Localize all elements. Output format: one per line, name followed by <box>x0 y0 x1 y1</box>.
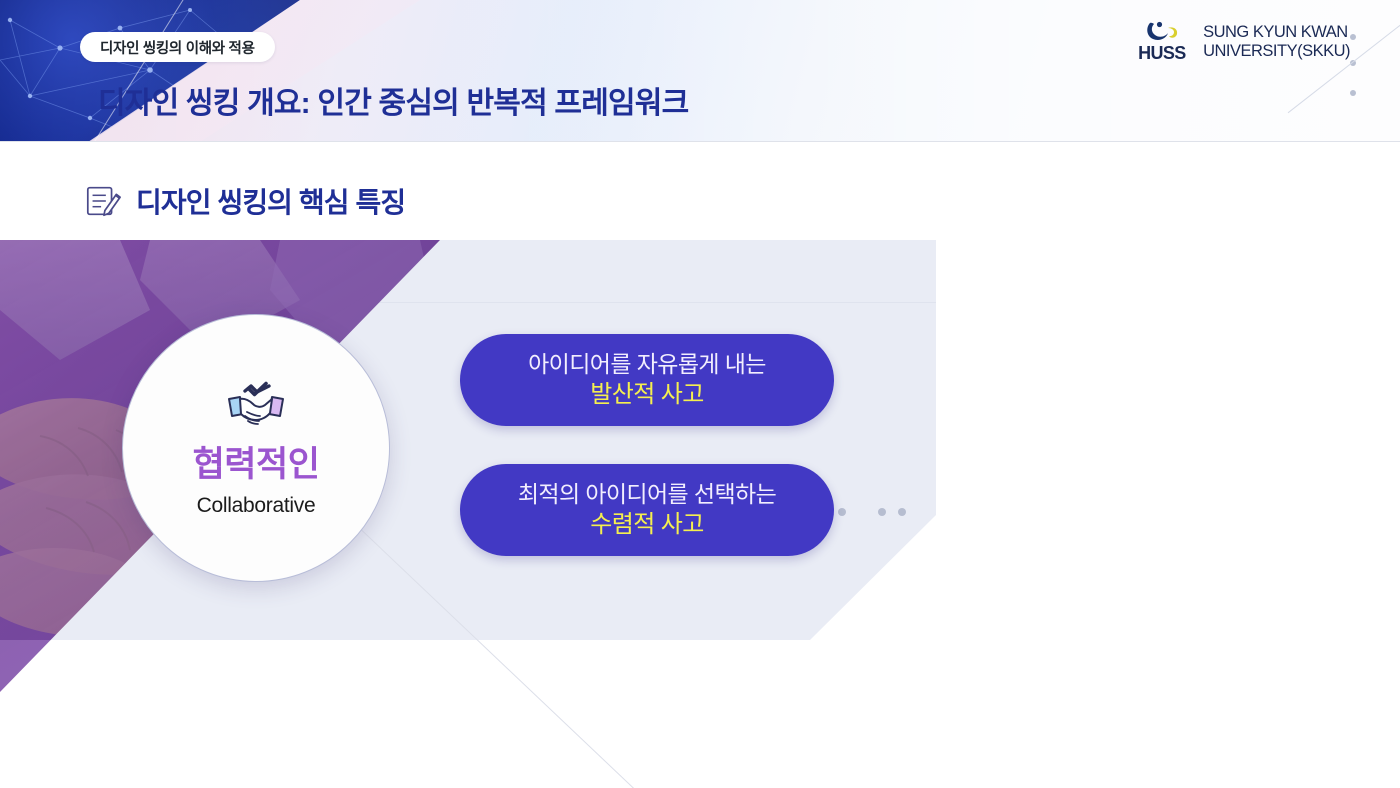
handshake-check-icon <box>225 378 287 445</box>
memo-pencil-icon <box>84 182 122 220</box>
feature-label-ko: 협력적인 <box>193 447 320 484</box>
slide-header: 디자인 씽킹의 이해와 적용 디자인 씽킹 개요: 인간 중심의 반복적 프레임… <box>0 0 1400 142</box>
pill-term: 수렴적 사고 <box>590 510 703 540</box>
logo-university-name: SUNG KYUN KWAN UNIVERSITY(SKKU) <box>1203 23 1350 63</box>
header-dots-decoration <box>1350 34 1356 116</box>
panel-dot <box>878 508 886 516</box>
section-heading: 디자인 씽킹의 핵심 특징 <box>84 181 405 221</box>
header-dot <box>1350 34 1356 40</box>
pill-description: 아이디어를 자유롭게 내는 <box>528 350 766 379</box>
slide: 디자인 씽킹의 이해와 적용 디자인 씽킹 개요: 인간 중심의 반복적 프레임… <box>0 0 1400 788</box>
logo-abbr: HUSS <box>1138 43 1186 64</box>
skku-crescent-icon: HUSS <box>1138 22 1194 64</box>
content-area: 협력적인 Collaborative 아이디어를 자유롭게 내는 발산적 사고 … <box>0 240 1400 788</box>
feature-circle: 협력적인 Collaborative <box>122 314 390 582</box>
header-divider <box>0 141 1400 142</box>
thinking-pill-convergent[interactable]: 최적의 아이디어를 선택하는 수렴적 사고 <box>460 464 834 556</box>
thinking-pill-divergent[interactable]: 아이디어를 자유롭게 내는 발산적 사고 <box>460 334 834 426</box>
feature-label-en: Collaborative <box>197 494 316 518</box>
pill-description: 최적의 아이디어를 선택하는 <box>518 480 776 509</box>
logo-name-line1: SUNG KYUN KWAN <box>1203 23 1350 42</box>
panel-dot <box>898 508 906 516</box>
pill-term: 발산적 사고 <box>590 380 703 410</box>
university-logo: HUSS SUNG KYUN KWAN UNIVERSITY(SKKU) <box>1138 22 1350 64</box>
panel-dot <box>838 508 846 516</box>
header-dot <box>1350 90 1356 96</box>
panel-dots-decoration <box>838 508 906 516</box>
breadcrumb-badge: 디자인 씽킹의 이해와 적용 <box>80 32 275 62</box>
section-title: 디자인 씽킹의 핵심 특징 <box>136 181 405 221</box>
page-title: 디자인 씽킹 개요: 인간 중심의 반복적 프레임워크 <box>98 78 688 122</box>
logo-name-line2: UNIVERSITY(SKKU) <box>1203 42 1350 61</box>
